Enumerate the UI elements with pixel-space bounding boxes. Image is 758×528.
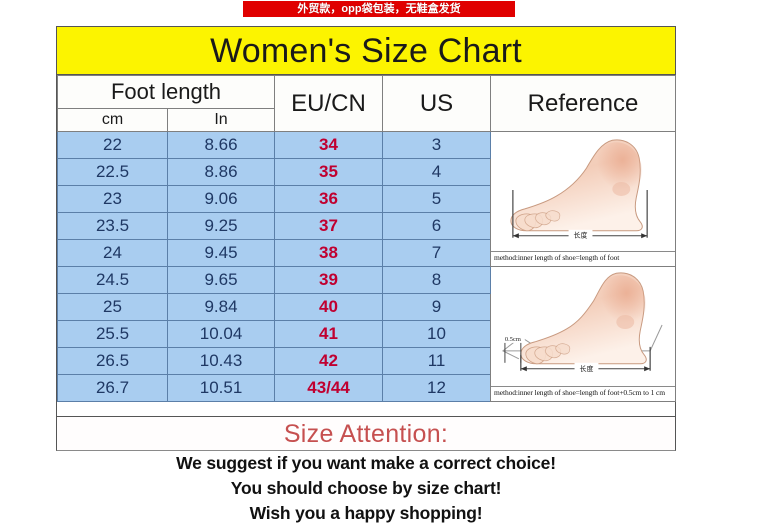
attention-line-1: We suggest if you want make a correct ch… xyxy=(56,451,676,476)
table-row: 24.5 9.65 39 8 xyxy=(58,267,676,294)
measure-label-2: 长度 xyxy=(580,364,594,373)
cell-cm: 23.5 xyxy=(58,213,168,240)
cell-eu: 34 xyxy=(275,132,383,159)
size-chart-table: Foot length EU/CN US Reference cm In 22 … xyxy=(57,75,676,402)
cell-eu: 39 xyxy=(275,267,383,294)
header-unit-cm: cm xyxy=(58,109,168,132)
cell-us: 11 xyxy=(383,348,491,375)
cell-us: 10 xyxy=(383,321,491,348)
cell-us: 6 xyxy=(383,213,491,240)
reference-cell-2: 0.5cm 长度 method:inner len xyxy=(491,267,676,402)
chart-title: Women's Size Chart xyxy=(57,27,675,75)
measure-label-1: 长度 xyxy=(574,231,588,240)
cell-in: 9.25 xyxy=(168,213,275,240)
attention-line-2: You should choose by size chart! xyxy=(56,476,676,501)
size-attention-lines: We suggest if you want make a correct ch… xyxy=(56,451,676,528)
cell-cm: 22.5 xyxy=(58,159,168,186)
cell-in: 8.66 xyxy=(168,132,275,159)
header-row-primary: Foot length EU/CN US Reference xyxy=(58,76,676,109)
cell-us: 8 xyxy=(383,267,491,294)
cell-in: 8.86 xyxy=(168,159,275,186)
cell-cm: 26.5 xyxy=(58,348,168,375)
cell-us: 4 xyxy=(383,159,491,186)
cell-in: 9.45 xyxy=(168,240,275,267)
header-foot-length: Foot length xyxy=(58,76,275,109)
cell-eu: 42 xyxy=(275,348,383,375)
cell-in: 9.06 xyxy=(168,186,275,213)
table-row: 22 8.66 34 3 xyxy=(58,132,676,159)
cell-in: 10.43 xyxy=(168,348,275,375)
cell-us: 7 xyxy=(383,240,491,267)
foot-diagram-1: 长度 xyxy=(491,132,675,251)
foot-illustration-1-svg: 长度 xyxy=(491,132,675,251)
foot-illustration-2-svg: 0.5cm 长度 xyxy=(491,267,675,386)
cell-cm: 24.5 xyxy=(58,267,168,294)
reference-cell-1: 长度 method:inner length of shoe=length of… xyxy=(491,132,676,267)
cell-in: 10.04 xyxy=(168,321,275,348)
size-attention-title: Size Attention: xyxy=(57,417,675,451)
cell-in: 9.84 xyxy=(168,294,275,321)
cell-cm: 24 xyxy=(58,240,168,267)
cell-eu: 40 xyxy=(275,294,383,321)
cell-eu: 43/44 xyxy=(275,375,383,402)
promo-banner: 外贸款，opp袋包装，无鞋盒发货 xyxy=(243,1,515,17)
reference-caption-1: method:inner length of shoe=length of fo… xyxy=(491,251,675,263)
gap-label-2: 0.5cm xyxy=(505,336,521,343)
cell-cm: 25.5 xyxy=(58,321,168,348)
header-unit-in: In xyxy=(168,109,275,132)
header-us: US xyxy=(383,76,491,132)
cell-cm: 26.7 xyxy=(58,375,168,402)
foot-diagram-2: 0.5cm 长度 xyxy=(491,267,675,386)
attention-line-3: Wish you a happy shopping! xyxy=(56,501,676,526)
cell-in: 9.65 xyxy=(168,267,275,294)
cell-cm: 25 xyxy=(58,294,168,321)
cell-eu: 35 xyxy=(275,159,383,186)
cell-eu: 37 xyxy=(275,213,383,240)
cell-eu: 38 xyxy=(275,240,383,267)
reference-caption-2: method:inner length of shoe=length of fo… xyxy=(491,386,675,398)
cell-eu: 41 xyxy=(275,321,383,348)
table-header: Foot length EU/CN US Reference cm In xyxy=(58,76,676,132)
cell-cm: 23 xyxy=(58,186,168,213)
size-attention-bar: Size Attention: xyxy=(56,417,676,451)
cell-us: 12 xyxy=(383,375,491,402)
reference-box-2: 0.5cm 长度 method:inner len xyxy=(491,267,675,401)
size-chart-frame: Women's Size Chart Foot length EU/CN US … xyxy=(56,26,676,417)
header-reference: Reference xyxy=(491,76,676,132)
cell-us: 3 xyxy=(383,132,491,159)
table-body: 22 8.66 34 3 xyxy=(58,132,676,402)
cell-in: 10.51 xyxy=(168,375,275,402)
cell-us: 9 xyxy=(383,294,491,321)
cell-eu: 36 xyxy=(275,186,383,213)
cell-cm: 22 xyxy=(58,132,168,159)
cell-us: 5 xyxy=(383,186,491,213)
header-eu-cn: EU/CN xyxy=(275,76,383,132)
reference-box-1: 长度 method:inner length of shoe=length of… xyxy=(491,132,675,266)
